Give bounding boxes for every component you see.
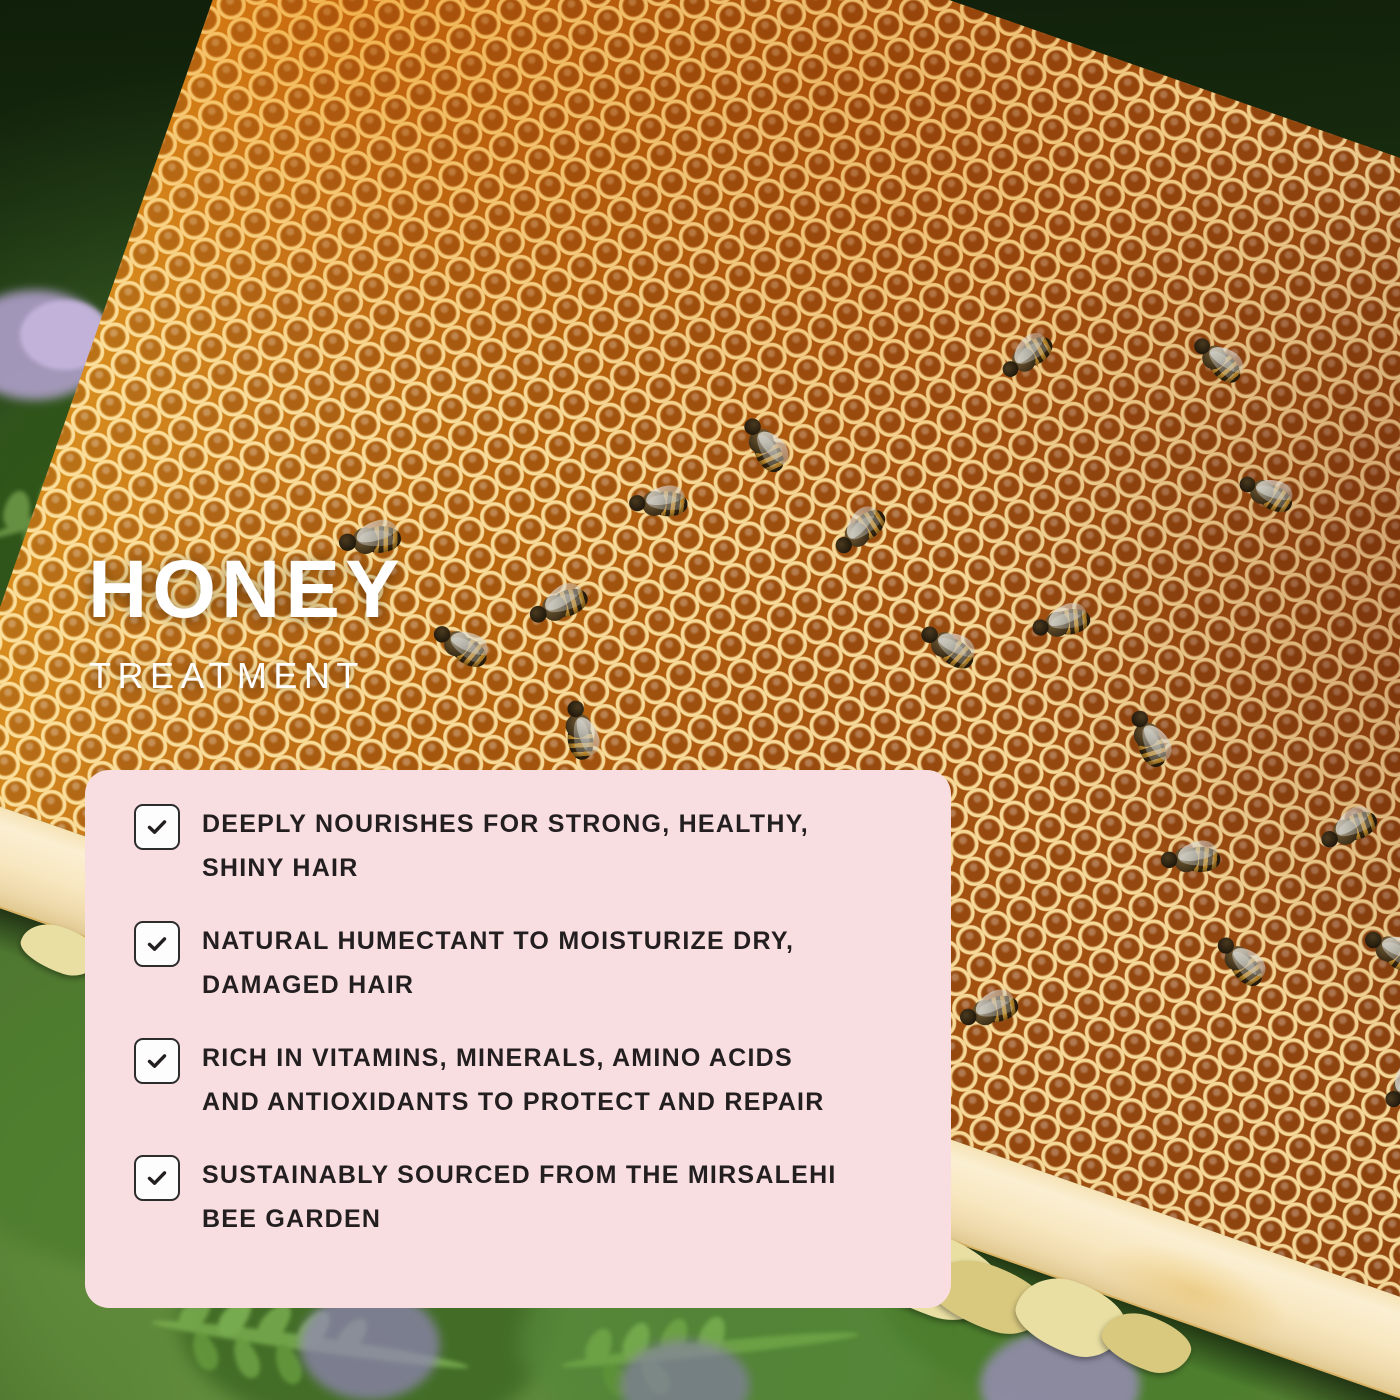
list-item: NATURAL HUMECTANT TO MOISTURIZE DRY, DAM…	[134, 919, 921, 1007]
list-item: DEEPLY NOURISHES FOR STRONG, HEALTHY, SH…	[134, 802, 921, 890]
benefit-line-1: DEEPLY NOURISHES FOR STRONG, HEALTHY,	[202, 810, 809, 838]
bee	[629, 491, 688, 517]
benefit-line-2: SHINY HAIR	[202, 854, 359, 882]
page-subtitle: TREATMENT	[89, 656, 365, 696]
bee	[1161, 847, 1221, 873]
benefit-line-2: DAMAGED HAIR	[202, 971, 414, 999]
check-icon	[134, 1038, 180, 1084]
benefits-list: DEEPLY NOURISHES FOR STRONG, HEALTHY, SH…	[134, 802, 921, 1241]
benefit-line-1: SUSTAINABLY SOURCED FROM THE MIRSALEHI	[202, 1161, 837, 1189]
check-icon	[134, 804, 180, 850]
benefit-text: DEEPLY NOURISHES FOR STRONG, HEALTHY, SH…	[202, 802, 809, 890]
benefits-panel: DEEPLY NOURISHES FOR STRONG, HEALTHY, SH…	[85, 770, 951, 1308]
list-item: SUSTAINABLY SOURCED FROM THE MIRSALEHI B…	[134, 1153, 921, 1241]
ingredient-card: HONEY TREATMENT DEEPLY NOURISHES FOR STR…	[0, 0, 1400, 1400]
page-title: HONEY	[88, 549, 405, 631]
check-icon	[134, 921, 180, 967]
benefit-text: RICH IN VITAMINS, MINERALS, AMINO ACIDS …	[202, 1036, 825, 1124]
benefit-text: NATURAL HUMECTANT TO MOISTURIZE DRY, DAM…	[202, 919, 794, 1007]
benefit-line-2: AND ANTIOXIDANTS TO PROTECT AND REPAIR	[202, 1088, 825, 1116]
benefit-line-1: NATURAL HUMECTANT TO MOISTURIZE DRY,	[202, 927, 794, 955]
list-item: RICH IN VITAMINS, MINERALS, AMINO ACIDS …	[134, 1036, 921, 1124]
benefit-text: SUSTAINABLY SOURCED FROM THE MIRSALEHI B…	[202, 1153, 837, 1241]
check-icon	[134, 1155, 180, 1201]
benefit-line-2: BEE GARDEN	[202, 1205, 381, 1233]
benefit-line-1: RICH IN VITAMINS, MINERALS, AMINO ACIDS	[202, 1044, 793, 1072]
